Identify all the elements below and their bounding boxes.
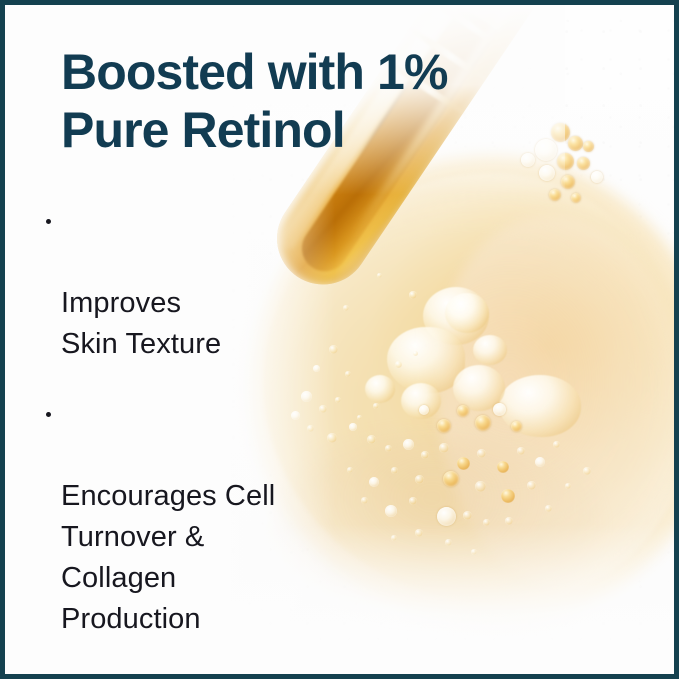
serum-bubble (583, 467, 591, 475)
serum-bubble (511, 421, 522, 432)
serum-bubble (421, 451, 429, 459)
serum-bubble (361, 497, 368, 504)
serum-bubble (369, 477, 379, 487)
serum-bubble (439, 443, 449, 453)
serum-bubble (457, 405, 469, 417)
serum-bubble (373, 403, 379, 409)
serum-bubble (319, 405, 327, 413)
list-item: Improves Skin Texture (45, 201, 315, 365)
serum-bubble (437, 419, 451, 433)
serum-bubble (535, 457, 545, 467)
serum-bubble (517, 447, 525, 455)
serum-bubble (505, 517, 513, 525)
serum-bubble (409, 291, 417, 299)
serum-bubble (553, 441, 560, 448)
serum-bubble (549, 189, 561, 201)
serum-bubble (377, 273, 382, 278)
list-item: Encourages Cell Turnover & Collagen Prod… (45, 394, 315, 640)
serum-bubble (571, 193, 581, 203)
serum-bubble (475, 481, 486, 492)
serum-bubble (583, 141, 594, 152)
serum-bubble (345, 371, 351, 377)
serum-bubble (561, 175, 575, 189)
serum-blob (365, 375, 395, 403)
serum-bubble (493, 403, 506, 416)
product-benefit-card: Boosted with 1% Pure Retinol Improves Sk… (0, 0, 679, 679)
serum-bubble (443, 471, 459, 487)
serum-bubble (527, 481, 536, 490)
serum-bubble (475, 415, 491, 431)
serum-bubble (367, 435, 376, 444)
serum-bubble (501, 489, 515, 503)
serum-bubble (419, 405, 429, 415)
serum-bubble (483, 519, 490, 526)
page-title: Boosted with 1% Pure Retinol (61, 43, 581, 159)
serum-bubble (463, 511, 472, 520)
serum-bubble (591, 171, 603, 183)
serum-bubble (403, 439, 414, 450)
serum-bubble (409, 497, 417, 505)
benefit-text: Encourages Cell Turnover & Collagen Prod… (61, 480, 275, 635)
serum-bubble (357, 415, 362, 420)
serum-bubble (349, 423, 357, 431)
serum-bubble (391, 535, 397, 541)
serum-bubble (385, 445, 392, 452)
serum-bubble (391, 467, 398, 474)
serum-bubble (497, 461, 509, 473)
serum-bubble (445, 539, 452, 546)
serum-blob (445, 293, 489, 333)
serum-bubble (335, 397, 341, 403)
serum-bubble (437, 507, 456, 526)
serum-bubble (457, 457, 470, 470)
serum-bubble (329, 345, 338, 354)
benefit-text: Improves Skin Texture (61, 287, 221, 360)
benefits-list: Improves Skin Texture Encourages Cell Tu… (45, 201, 315, 640)
serum-bubble (343, 305, 349, 311)
serum-bubble (413, 351, 418, 356)
serum-bubble (477, 449, 486, 458)
bullet-icon (46, 219, 51, 224)
serum-bubble (545, 505, 552, 512)
serum-bubble (347, 467, 353, 473)
serum-bubble (385, 505, 397, 517)
serum-bubble (415, 475, 424, 484)
serum-bubble (471, 549, 477, 555)
serum-bubble (327, 433, 337, 443)
serum-bubble (395, 361, 402, 368)
serum-blob (473, 335, 507, 365)
serum-bubble (415, 529, 423, 537)
serum-puddle-shadow (267, 435, 597, 615)
bullet-icon (46, 412, 51, 417)
serum-bubble (565, 483, 571, 489)
serum-bubble (539, 165, 555, 181)
